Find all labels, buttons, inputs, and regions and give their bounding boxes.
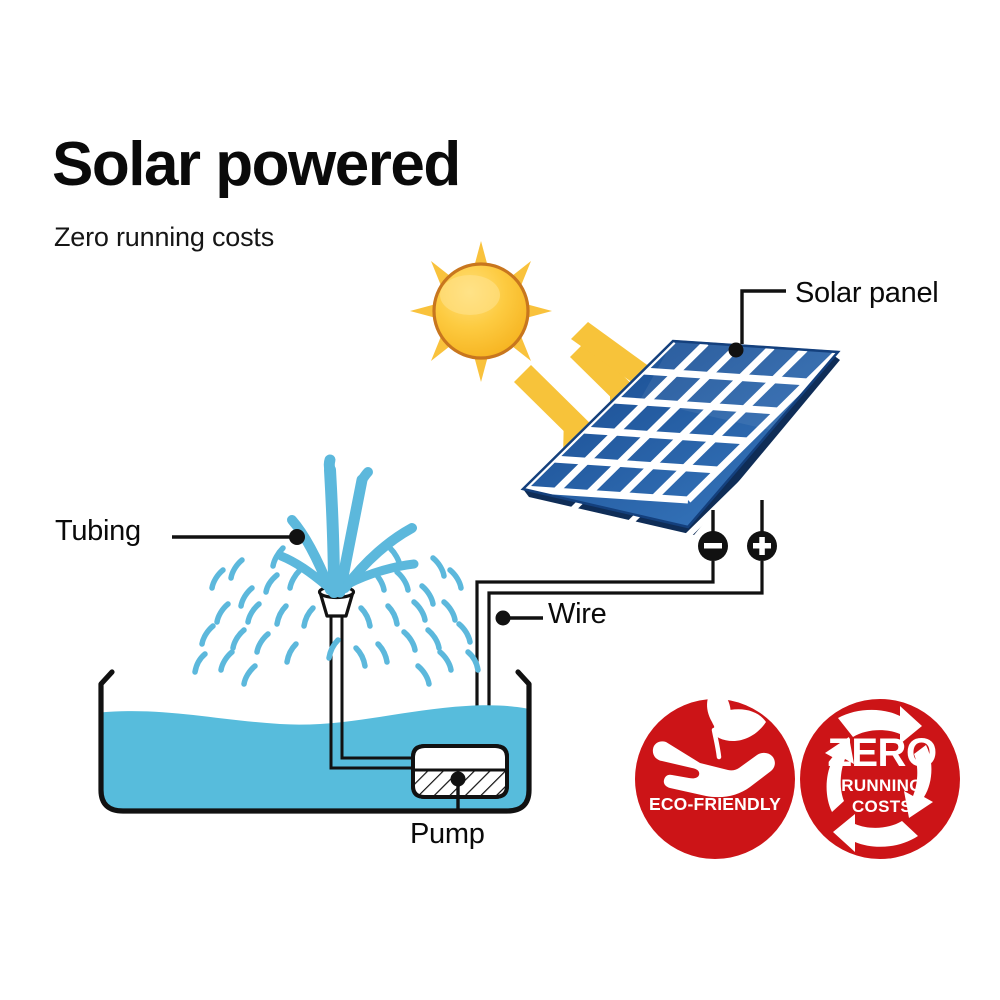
sun-icon	[410, 241, 552, 382]
zero-badge-line3: COSTS	[852, 797, 912, 816]
leader-solar-panel	[742, 291, 786, 344]
leader-dot-tubing	[289, 529, 305, 545]
plus-icon-v	[759, 537, 765, 555]
sun-highlight	[440, 275, 500, 315]
leader-wire	[496, 611, 544, 626]
eco-friendly-badge[interactable]: ECO-FRIENDLY	[635, 686, 795, 859]
leader-tubing	[172, 529, 305, 545]
leader-dot-solar-panel	[729, 343, 744, 358]
infographic-page: Solar powered Zero running costs Solar p…	[0, 0, 1000, 1000]
leader-dot-pump	[451, 772, 466, 787]
eco-badge-label: ECO-FRIENDLY	[649, 794, 781, 814]
leader-dot-wire	[496, 611, 511, 626]
diagram-canvas: ECO-FRIENDLY ZERO RUNNING COSTS	[0, 0, 1000, 1000]
zero-running-costs-badge[interactable]: ZERO RUNNING COSTS	[800, 699, 960, 859]
minus-icon	[704, 543, 722, 549]
zero-badge-line1: ZERO	[827, 731, 936, 775]
zero-badge-line2: RUNNING	[841, 776, 922, 795]
